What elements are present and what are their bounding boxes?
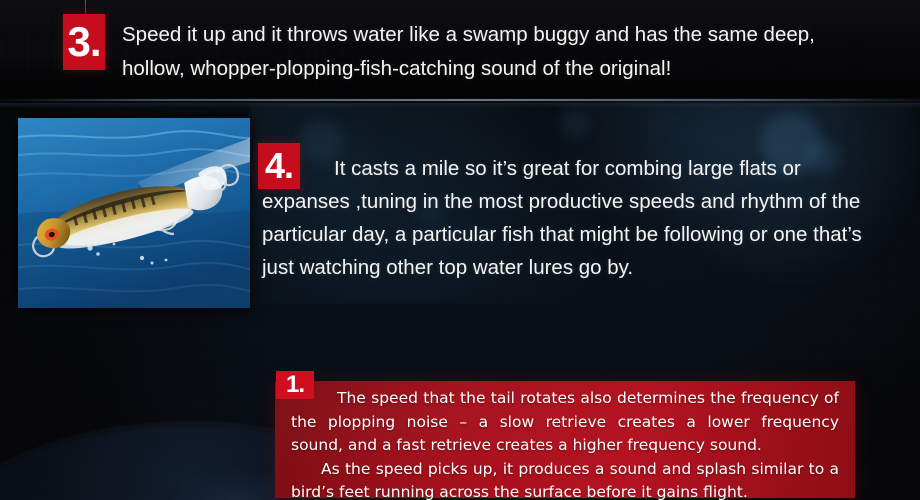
- callout-line-5: bird’s feet running across the surface b…: [291, 481, 839, 500]
- section-divider-line: [0, 99, 920, 101]
- callout-line-1: The speed that the tail rotates also det…: [337, 387, 839, 411]
- callout-paragraph-2: As the speed picks up, it produces a sou…: [291, 458, 839, 500]
- callout-paragraph-1: The speed that the tail rotates also det…: [291, 387, 839, 411]
- callout-line-4: As the speed picks up, it produces a sou…: [291, 458, 839, 482]
- section-3-text: Speed it up and it throws water like a s…: [122, 18, 882, 86]
- callout-number-badge-1: 1.: [276, 371, 314, 399]
- callout-line-2: the plopping noise – a slow retrieve cre…: [291, 411, 839, 435]
- callout-box: The speed that the tail rotates also det…: [275, 381, 855, 498]
- callout-line-3: sound, and a fast retrieve creates a hig…: [291, 434, 839, 458]
- callout-paragraph-1b: the plopping noise – a slow retrieve cre…: [291, 411, 839, 458]
- page-canvas: 3. Speed it up and it throws water like …: [0, 0, 920, 500]
- section-4-text: It casts a mile so it’s great for combin…: [262, 152, 862, 284]
- lure-photo: [18, 118, 250, 308]
- section-number-badge-3: 3.: [63, 14, 105, 70]
- lure-photo-illustration: [18, 118, 250, 308]
- callout-text: The speed that the tail rotates also det…: [291, 387, 839, 500]
- bokeh-circle: [560, 108, 590, 138]
- section-4-body: It casts a mile so it’s great for combin…: [262, 157, 862, 279]
